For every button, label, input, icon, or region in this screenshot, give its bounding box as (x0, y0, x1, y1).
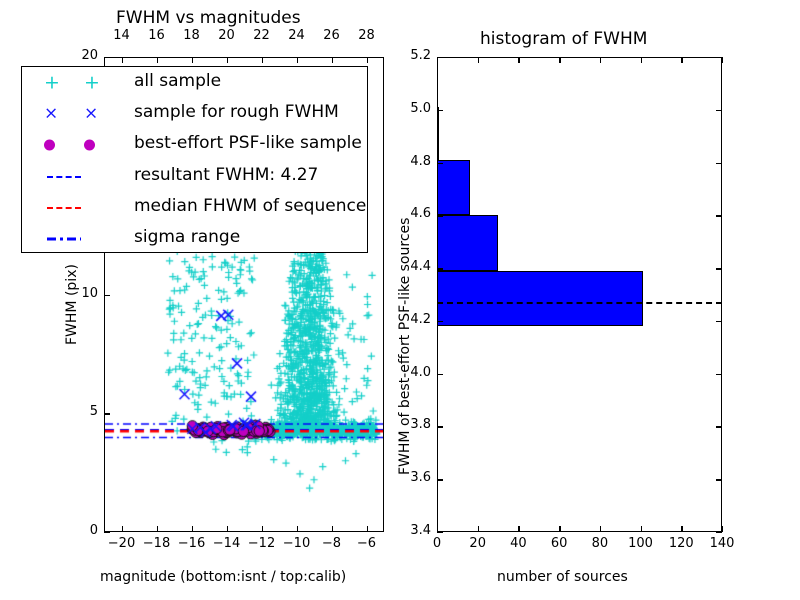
tick-mark (716, 479, 722, 480)
tick-mark (437, 479, 443, 480)
histogram-y-tick-label: 4.8 (393, 154, 431, 169)
tick-mark (681, 57, 682, 63)
scatter-y-tick-label: 10 (62, 286, 98, 301)
histogram-y-tick-label: 4.0 (393, 365, 431, 380)
tick-mark (122, 526, 123, 532)
legend-item-4: median FHWM of sequence (22, 193, 367, 223)
scatter-y-tick-label: 5 (62, 404, 98, 419)
tick-mark (227, 57, 228, 63)
histogram-bar (437, 160, 470, 215)
tick-mark (716, 426, 722, 427)
scatter-top-tick-label: 24 (282, 28, 312, 43)
dashed-line-red-icon (47, 207, 81, 209)
tick-mark (437, 163, 443, 164)
histogram-y-tick-label: 4.4 (393, 259, 431, 274)
tick-mark (722, 57, 723, 63)
histogram-x-tick-label: 40 (502, 536, 534, 551)
histogram-resultant-fwhm-line (437, 302, 722, 304)
legend-item-0: ++all sample (22, 68, 367, 98)
tick-mark (192, 57, 193, 63)
cross-icon: × (84, 106, 98, 123)
legend-item-label: all sample (134, 71, 221, 91)
legend-item-label: resultant FWHM: 4.27 (134, 165, 318, 185)
scatter-x-tick-label: −20 (107, 536, 137, 551)
tick-mark (681, 526, 682, 532)
histogram-y-tick-label: 3.6 (393, 470, 431, 485)
tick-mark (437, 215, 443, 216)
legend-box: ++all sample××sample for rough FWHMbest-… (21, 66, 368, 253)
scatter-x-tick-label: −8 (317, 536, 347, 551)
legend-item-label: sigma range (134, 227, 240, 247)
histogram-x-tick-label: 60 (543, 536, 575, 551)
histogram-y-tick-label: 5.2 (393, 48, 431, 63)
tick-mark (478, 526, 479, 532)
histogram-y-tick-label: 3.4 (393, 523, 431, 538)
plus-icon: + (84, 74, 100, 93)
tick-mark (104, 57, 110, 58)
tick-mark (437, 268, 443, 269)
tick-mark (367, 57, 368, 63)
tick-mark (262, 526, 263, 532)
tick-mark (437, 374, 443, 375)
tick-mark (716, 374, 722, 375)
dashed-line-blue-icon (47, 176, 81, 178)
histogram-xlabel: number of sources (497, 569, 628, 585)
tick-mark (478, 57, 479, 63)
scatter-title: FWHM vs magnitudes (116, 8, 301, 28)
tick-mark (518, 526, 519, 532)
tick-mark (600, 57, 601, 63)
histogram-y-tick-label: 5.0 (393, 101, 431, 116)
scatter-ylabel: FWHM (pix) (64, 264, 80, 345)
histogram-bar (437, 271, 643, 326)
tick-mark (332, 526, 333, 532)
scatter-top-tick-label: 20 (212, 28, 242, 43)
tick-mark (716, 532, 722, 533)
tick-mark (157, 57, 158, 63)
tick-mark (437, 321, 443, 322)
legend-item-label: median FHWM of sequence (134, 196, 366, 216)
plus-icon: + (44, 74, 60, 93)
scatter-x-tick-label: −16 (177, 536, 207, 551)
tick-mark (227, 526, 228, 532)
tick-mark (192, 526, 193, 532)
tick-mark (367, 526, 368, 532)
figure-canvas: FWHM vs magnitudes magnitude (bottom:isn… (0, 0, 800, 600)
tick-mark (559, 526, 560, 532)
tick-mark (437, 426, 443, 427)
cross-icon: × (44, 106, 58, 123)
tick-mark (722, 526, 723, 532)
histogram-ylabel: FWHM of best-effort PSF-like sources (397, 218, 413, 475)
scatter-top-tick-label: 14 (107, 28, 137, 43)
tick-mark (716, 215, 722, 216)
histogram-bar (437, 215, 498, 270)
tick-mark (518, 57, 519, 63)
dashdot-line-blue-icon (47, 237, 81, 240)
tick-mark (437, 110, 443, 111)
tick-mark (716, 321, 722, 322)
tick-mark (262, 57, 263, 63)
scatter-top-tick-label: 18 (177, 28, 207, 43)
scatter-y-tick-label: 20 (62, 48, 98, 63)
tick-mark (437, 57, 443, 58)
histogram-x-tick-label: 20 (462, 536, 494, 551)
scatter-x-tick-label: −14 (212, 536, 242, 551)
tick-mark (104, 295, 110, 296)
tick-mark (104, 532, 110, 533)
tick-mark (641, 57, 642, 63)
circle-icon (44, 140, 55, 151)
histogram-x-tick-label: 80 (584, 536, 616, 551)
tick-mark (157, 526, 158, 532)
legend-item-3: resultant FWHM: 4.27 (22, 162, 367, 192)
histogram-title: histogram of FWHM (480, 29, 647, 49)
scatter-top-tick-label: 26 (317, 28, 347, 43)
legend-item-5: sigma range (22, 224, 367, 254)
histogram-x-tick-label: 0 (421, 536, 453, 551)
histogram-bar (437, 107, 439, 160)
tick-mark (297, 526, 298, 532)
histogram-y-tick-label: 4.2 (393, 312, 431, 327)
tick-mark (332, 57, 333, 63)
tick-mark (600, 526, 601, 532)
circle-icon (84, 140, 95, 151)
legend-item-label: sample for rough FWHM (134, 102, 339, 122)
scatter-x-tick-label: −12 (247, 536, 277, 551)
tick-mark (716, 110, 722, 111)
tick-mark (297, 57, 298, 63)
tick-mark (104, 413, 110, 414)
histogram-y-tick-label: 4.6 (393, 206, 431, 221)
tick-mark (716, 268, 722, 269)
tick-mark (122, 57, 123, 63)
tick-mark (716, 163, 722, 164)
tick-mark (437, 532, 443, 533)
legend-item-label: best-effort PSF-like sample (134, 133, 362, 153)
scatter-y-tick-label: 0 (62, 523, 98, 538)
scatter-x-tick-label: −6 (352, 536, 382, 551)
scatter-x-tick-label: −18 (142, 536, 172, 551)
tick-mark (716, 57, 722, 58)
histogram-y-tick-label: 3.8 (393, 417, 431, 432)
scatter-x-tick-label: −10 (282, 536, 312, 551)
scatter-top-tick-label: 22 (247, 28, 277, 43)
histogram-x-tick-label: 100 (625, 536, 657, 551)
histogram-x-tick-label: 120 (665, 536, 697, 551)
tick-mark (559, 57, 560, 63)
scatter-xlabel: magnitude (bottom:isnt / top:calib) (100, 569, 346, 585)
legend-item-1: ××sample for rough FWHM (22, 99, 367, 129)
tick-mark (641, 526, 642, 532)
legend-item-2: best-effort PSF-like sample (22, 130, 367, 160)
scatter-top-tick-label: 28 (352, 28, 382, 43)
scatter-top-tick-label: 16 (142, 28, 172, 43)
histogram-x-tick-label: 140 (706, 536, 738, 551)
